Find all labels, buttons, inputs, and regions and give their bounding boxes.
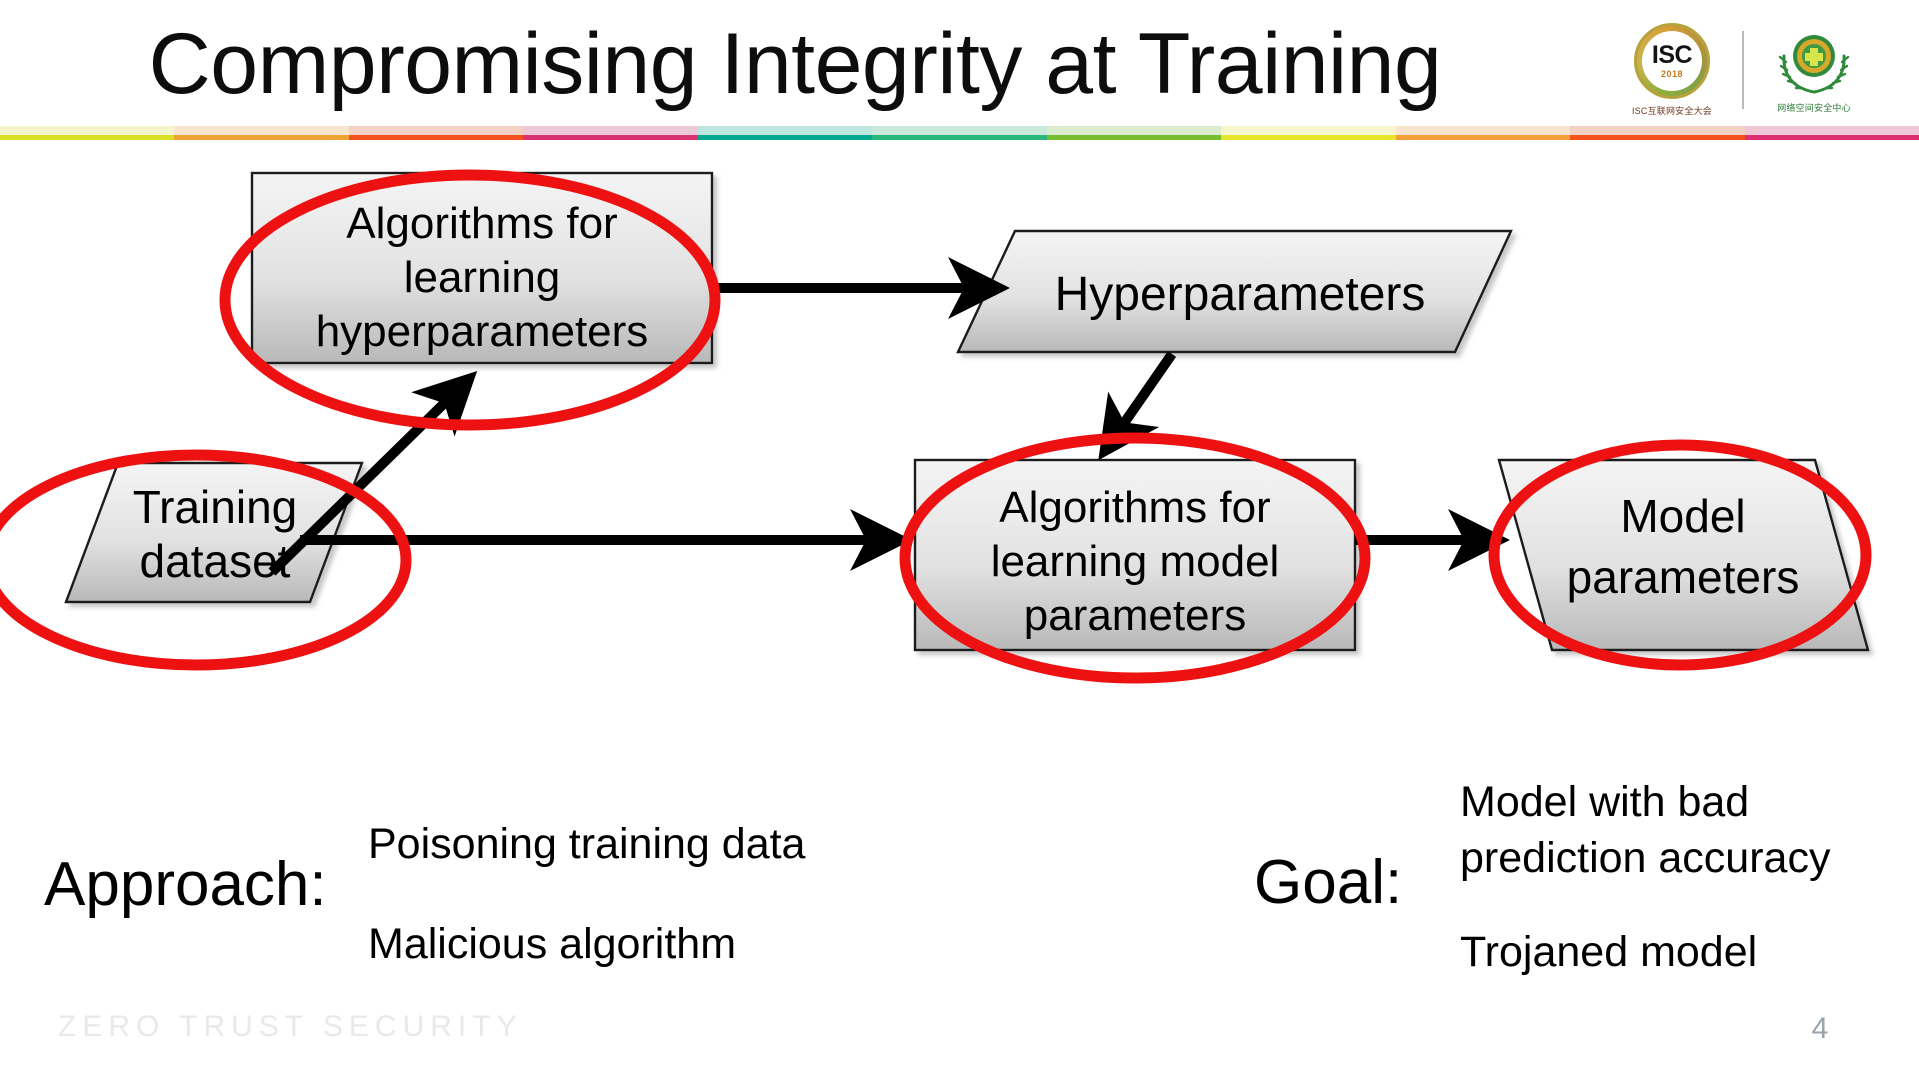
approach-item: Poisoning training data	[368, 820, 805, 868]
isc-logo: ISC 2018 ISC互联网安全大会	[1612, 23, 1732, 117]
divider-segment-glow	[174, 126, 348, 135]
node-label-line: dataset	[140, 535, 291, 587]
node-model-parameters[interactable]: Model parameters	[1499, 460, 1868, 650]
divider-segment-glow	[698, 126, 872, 135]
flow-diagram: Algorithms for learning hyperparameters …	[0, 140, 1919, 780]
divider-segment-glow	[1221, 126, 1395, 135]
node-label-line: Algorithms for	[346, 199, 617, 248]
logo-divider	[1742, 31, 1744, 109]
divider-segment	[349, 126, 523, 140]
approach-label: Approach:	[44, 854, 327, 916]
divider-segment	[1047, 126, 1221, 140]
approach-item: Malicious algorithm	[368, 920, 736, 968]
node-hyperparameters[interactable]: Hyperparameters	[958, 231, 1511, 352]
node-label-line: parameters	[1024, 591, 1247, 640]
node-label-line: Model	[1620, 490, 1745, 542]
diagram-svg: Algorithms for learning hyperparameters …	[0, 140, 1919, 780]
node-algorithms-model-parameters[interactable]: Algorithms for learning model parameters	[915, 460, 1355, 650]
divider-segment	[0, 126, 174, 140]
divider-segment	[523, 126, 697, 140]
divider-segment-glow	[349, 126, 523, 135]
goal-item: Model with bad	[1460, 778, 1749, 826]
isc-ring-icon: ISC 2018	[1634, 23, 1710, 99]
node-label-line: hyperparameters	[316, 307, 649, 356]
isc-logo-caption: ISC互联网安全大会	[1632, 104, 1712, 117]
slide-number: 4	[1790, 1012, 1850, 1046]
divider-segment-glow	[0, 126, 174, 135]
color-divider-strip	[0, 126, 1919, 140]
divider-segment-glow	[872, 126, 1046, 135]
laurel-wreath-icon	[1776, 26, 1852, 96]
divider-segment	[174, 126, 348, 140]
emblem-logo-caption: 网络空间安全中心	[1777, 101, 1851, 114]
divider-segment	[1570, 126, 1744, 140]
divider-segment	[1745, 126, 1919, 140]
title-bar: Compromising Integrity at Training ISC 2…	[0, 0, 1919, 132]
logo-group: ISC 2018 ISC互联网安全大会	[1612, 18, 1902, 122]
isc-year: 2018	[1652, 70, 1692, 79]
goal-item: Trojaned model	[1460, 928, 1757, 976]
divider-segment-glow	[1047, 126, 1221, 135]
node-label-line: learning model	[991, 537, 1280, 586]
divider-segment-glow	[1396, 126, 1570, 135]
cyber-security-emblem: 网络空间安全中心	[1754, 26, 1874, 114]
goal-item: prediction accuracy	[1460, 834, 1830, 882]
node-label-line: Training	[133, 481, 297, 533]
divider-segment	[1221, 126, 1395, 140]
node-label-line: Hyperparameters	[1055, 268, 1426, 321]
divider-segment-glow	[523, 126, 697, 135]
node-label-line: learning	[404, 253, 561, 302]
page-title: Compromising Integrity at Training	[60, 6, 1530, 124]
divider-segment-glow	[1570, 126, 1744, 135]
node-label-line: parameters	[1567, 551, 1800, 603]
slide-canvas: Compromising Integrity at Training ISC 2…	[0, 0, 1919, 1079]
node-label-line: Algorithms for	[999, 483, 1270, 532]
divider-segment	[1396, 126, 1570, 140]
goal-label: Goal:	[1254, 852, 1402, 914]
isc-wordmark: ISC	[1652, 43, 1692, 68]
divider-segment-glow	[1745, 126, 1919, 135]
bottom-text-area: Approach: Poisoning training data Malici…	[0, 778, 1919, 1008]
footer-watermark: ZERO TRUST SECURITY	[58, 1010, 523, 1044]
divider-segment	[698, 126, 872, 140]
divider-segment	[872, 126, 1046, 140]
